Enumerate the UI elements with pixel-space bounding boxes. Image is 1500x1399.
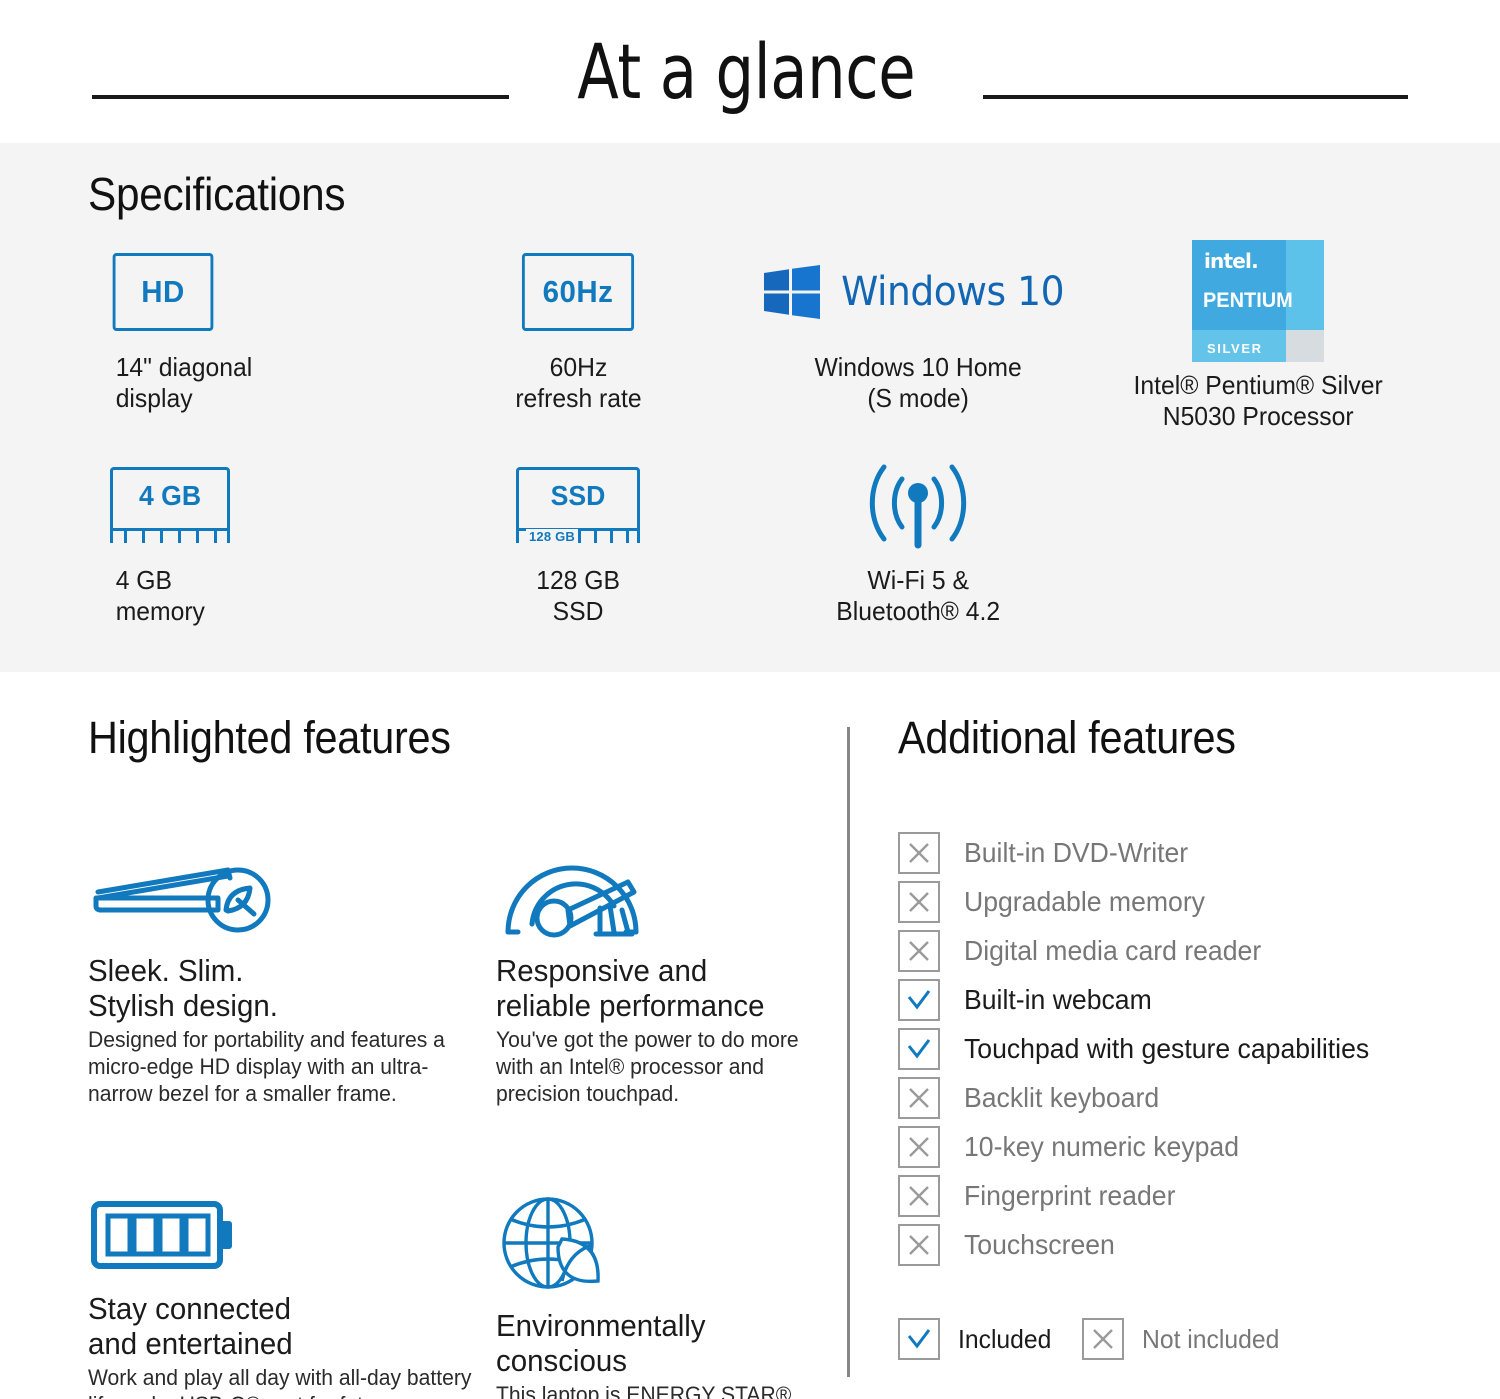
legend-not-included: Not included: [1082, 1318, 1287, 1360]
additional-feature-row[interactable]: Upgradable memory: [898, 877, 1478, 926]
cross-box-icon: [898, 881, 940, 923]
cross-box-icon: [898, 1175, 940, 1217]
feature-performance-heading: Responsive andreliable performance: [496, 954, 810, 1023]
column-divider: [847, 727, 850, 1377]
additional-feature-label: Touchscreen: [964, 1229, 1115, 1261]
header-rule-right: [983, 95, 1408, 99]
page-title: At a glance: [577, 34, 915, 110]
spec-label-display: 14" diagonaldisplay: [110, 352, 252, 413]
additional-feature-label: Built-in DVD-Writer: [964, 837, 1188, 869]
cross-icon: [905, 1084, 933, 1112]
spec-item-processor: intel. PENTIUM SILVER Intel® Pentium® Si…: [1108, 238, 1408, 451]
spec-label-memory: 4 GBmemory: [110, 565, 205, 626]
feature-environment-heading: Environmentallyconscious: [496, 1309, 810, 1378]
ssd-stick-icon: SSD 128 GB: [516, 451, 640, 559]
additional-features-list: Built-in DVD-WriterUpgradable memoryDigi…: [898, 828, 1478, 1269]
additional-feature-label: Backlit keyboard: [964, 1082, 1159, 1114]
cross-box-icon: [898, 1224, 940, 1266]
windows-wordmark: Windows 10: [842, 269, 1065, 315]
intel-brand-label: intel.: [1204, 249, 1258, 273]
spec-item-display: HD 14" diagonaldisplay: [88, 238, 428, 451]
spec-label-wireless: Wi-Fi 5 &Bluetooth® 4.2: [836, 565, 1000, 626]
additional-feature-row[interactable]: Built-in webcam: [898, 975, 1478, 1024]
legend-included-label: Included: [958, 1324, 1051, 1355]
additional-feature-row[interactable]: Fingerprint reader: [898, 1171, 1478, 1220]
cross-icon: [905, 1182, 933, 1210]
feature-battery: Stay connectedand entertained Work and p…: [88, 1174, 496, 1399]
cross-box-icon: [898, 832, 940, 874]
check-icon: [905, 1325, 933, 1353]
wifi-antenna-icon: [862, 451, 974, 559]
cross-box-icon: [898, 1077, 940, 1119]
windows-flag-icon: [764, 265, 820, 319]
legend-not-included-label: Not included: [1142, 1324, 1279, 1355]
feature-sleek-heading: Sleek. Slim.Stylish design.: [88, 954, 476, 1023]
spec-label-storage: 128 GBSSD: [536, 565, 620, 626]
header-rule-left: [92, 95, 509, 99]
intel-tier-label: SILVER: [1207, 341, 1263, 356]
windows-logo-icon: Windows 10: [764, 238, 1071, 346]
additional-feature-label: Fingerprint reader: [964, 1180, 1175, 1212]
spec-item-memory: 4 GB 4 GBmemory: [88, 451, 428, 651]
specifications-grid: HD 14" diagonaldisplay 60Hz 60Hzrefresh …: [88, 238, 1418, 651]
feature-performance: Responsive andreliable performance You'v…: [496, 836, 826, 1136]
additional-feature-row[interactable]: Touchscreen: [898, 1220, 1478, 1269]
highlighted-features-grid: Sleek. Slim.Stylish design. Designed for…: [88, 836, 818, 1399]
spec-item-storage: SSD 128 GB 128 GBSSD: [428, 451, 728, 651]
additional-feature-row[interactable]: Digital media card reader: [898, 926, 1478, 975]
cross-icon: [905, 839, 933, 867]
additional-feature-row[interactable]: Touchpad with gesture capabilities: [898, 1024, 1478, 1073]
check-box-icon: [898, 1028, 940, 1070]
check-box-icon: [898, 1318, 940, 1360]
cross-box-icon: [898, 930, 940, 972]
feature-battery-body: Work and play all day with all-day batte…: [88, 1365, 480, 1399]
cross-icon: [905, 1133, 933, 1161]
spec-item-wireless: Wi-Fi 5 &Bluetooth® 4.2: [728, 451, 1108, 651]
cross-icon: [905, 888, 933, 916]
additional-features-section: Additional features Built-in DVD-WriterU…: [898, 712, 1478, 1269]
additional-feature-label: Built-in webcam: [964, 984, 1152, 1016]
feature-battery-heading: Stay connectedand entertained: [88, 1292, 476, 1361]
hd-badge-label: HD: [113, 253, 214, 331]
intel-family-label: PENTIUM: [1203, 289, 1293, 313]
cross-box-icon: [1082, 1318, 1124, 1360]
specifications-section: Specifications HD 14" diagonaldisplay 60…: [0, 143, 1500, 672]
page-header: At a glance: [0, 0, 1500, 143]
feature-sleek-design: Sleek. Slim.Stylish design. Designed for…: [88, 836, 496, 1136]
intel-pentium-silver-badge-icon: intel. PENTIUM SILVER: [1192, 238, 1324, 364]
additional-feature-row[interactable]: Built-in DVD-Writer: [898, 828, 1478, 877]
slim-laptop-feather-icon: [88, 836, 496, 940]
additional-feature-label: 10-key numeric keypad: [964, 1131, 1239, 1163]
additional-feature-label: Upgradable memory: [964, 886, 1205, 918]
spec-item-os: Windows 10 Windows 10 Home(S mode): [728, 238, 1108, 451]
speedometer-icon: [496, 836, 826, 940]
globe-leaf-icon: [496, 1191, 826, 1295]
battery-icon: [88, 1174, 496, 1278]
spec-label-processor: Intel® Pentium® SilverN5030 Processor: [1133, 370, 1382, 431]
ssd-capacity-label: 128 GB: [526, 529, 578, 544]
spec-item-refresh: 60Hz 60Hzrefresh rate: [428, 238, 728, 451]
cross-icon: [905, 1231, 933, 1259]
additional-feature-row[interactable]: 10-key numeric keypad: [898, 1122, 1478, 1171]
cross-box-icon: [898, 1126, 940, 1168]
cross-icon: [1089, 1325, 1117, 1353]
check-box-icon: [898, 979, 940, 1021]
feature-performance-body: You've got the power to do more with an …: [496, 1027, 813, 1107]
refresh-badge-label: 60Hz: [522, 253, 634, 331]
additional-feature-label: Digital media card reader: [964, 935, 1261, 967]
refresh-chip-icon: 60Hz: [519, 238, 637, 346]
ssd-badge-label: SSD: [519, 480, 637, 512]
hd-chip-icon: HD: [110, 238, 216, 346]
memory-badge-label: 4 GB: [113, 480, 227, 512]
additional-feature-row[interactable]: Backlit keyboard: [898, 1073, 1478, 1122]
highlighted-features-title: Highlighted features: [88, 712, 760, 764]
additional-features-legend: Included Not included: [898, 1318, 1287, 1360]
at-a-glance-page: At a glance Specifications HD 14" diagon…: [0, 0, 1500, 1399]
highlighted-features-section: Highlighted features: [88, 712, 818, 1399]
check-icon: [905, 986, 933, 1014]
spec-label-refresh: 60Hzrefresh rate: [515, 352, 641, 413]
cross-icon: [905, 937, 933, 965]
feature-environment-body: This laptop is ENERGY STAR® certified an…: [496, 1382, 813, 1399]
additional-features-title: Additional features: [898, 712, 1432, 764]
check-icon: [905, 1035, 933, 1063]
specifications-title: Specifications: [88, 167, 345, 221]
additional-feature-label: Touchpad with gesture capabilities: [964, 1033, 1369, 1065]
feature-environment: Environmentallyconscious This laptop is …: [496, 1191, 826, 1399]
spec-label-os: Windows 10 Home(S mode): [814, 352, 1021, 413]
memory-stick-icon: 4 GB: [110, 451, 230, 559]
legend-included: Included: [898, 1318, 1056, 1360]
feature-sleek-body: Designed for portability and features a …: [88, 1027, 480, 1107]
